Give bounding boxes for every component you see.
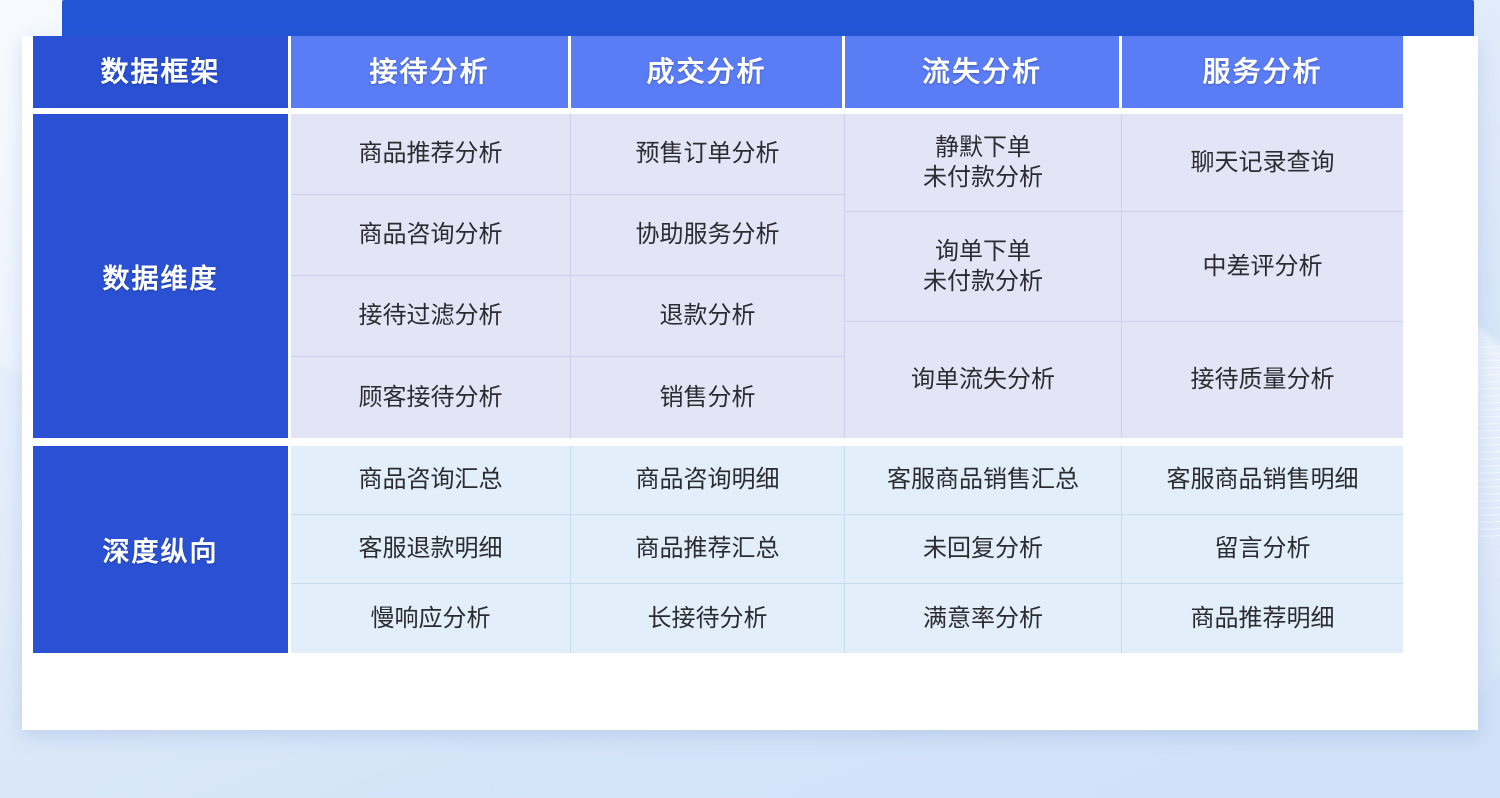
cell-deep-transaction-3[interactable]: 长接待分析 <box>571 584 845 653</box>
section-label-deep-vertical: 深度纵向 <box>33 446 291 653</box>
header-cell-reception[interactable]: 接待分析 <box>291 36 571 108</box>
table-row: 顾客接待分析 销售分析 <box>291 357 845 438</box>
cell-service-2[interactable]: 中差评分析 <box>1122 212 1403 322</box>
cell-deep-service-1[interactable]: 客服商品销售明细 <box>1122 446 1403 515</box>
table-row: 慢响应分析 长接待分析 满意率分析 商品推荐明细 <box>291 584 1403 653</box>
dimension-columns-left: 商品推荐分析 预售订单分析 商品咨询分析 协助服务分析 接待过滤分析 退款分析 … <box>291 114 845 438</box>
matrix-header-row: 数据框架 接待分析 成交分析 流失分析 服务分析 <box>33 36 1403 108</box>
header-cell-service[interactable]: 服务分析 <box>1122 36 1403 108</box>
cell-deep-reception-1[interactable]: 商品咨询汇总 <box>291 446 571 515</box>
dimension-columns-right: 静默下单 未付款分析 聊天记录查询 询单下单 未付款分析 中差评分析 询单流失分… <box>845 114 1403 438</box>
cell-deep-reception-3[interactable]: 慢响应分析 <box>291 584 571 653</box>
table-row: 询单流失分析 接待质量分析 <box>845 322 1403 438</box>
section-deep-vertical: 深度纵向 商品咨询汇总 商品咨询明细 客服商品销售汇总 客服商品销售明细 客服退… <box>33 446 1403 653</box>
table-row: 询单下单 未付款分析 中差评分析 <box>845 212 1403 322</box>
cell-reception-3[interactable]: 接待过滤分析 <box>291 276 571 357</box>
header-cell-transaction[interactable]: 成交分析 <box>571 36 845 108</box>
cell-transaction-4[interactable]: 销售分析 <box>571 357 845 438</box>
cell-churn-2[interactable]: 询单下单 未付款分析 <box>845 212 1122 322</box>
table-row: 接待过滤分析 退款分析 <box>291 276 845 357</box>
table-row: 客服退款明细 商品推荐汇总 未回复分析 留言分析 <box>291 515 1403 584</box>
cell-deep-churn-2[interactable]: 未回复分析 <box>845 515 1122 584</box>
cell-deep-transaction-2[interactable]: 商品推荐汇总 <box>571 515 845 584</box>
cell-churn-3[interactable]: 询单流失分析 <box>845 322 1122 438</box>
section-label-data-dimension: 数据维度 <box>33 114 291 438</box>
section-data-dimension: 数据维度 商品推荐分析 预售订单分析 商品咨询分析 协助服务分析 接待过滤分析 … <box>33 114 1403 438</box>
cell-deep-service-2[interactable]: 留言分析 <box>1122 515 1403 584</box>
cell-deep-reception-2[interactable]: 客服退款明细 <box>291 515 571 584</box>
table-row: 商品咨询汇总 商品咨询明细 客服商品销售汇总 客服商品销售明细 <box>291 446 1403 515</box>
table-row: 商品推荐分析 预售订单分析 <box>291 114 845 195</box>
header-cell-framework[interactable]: 数据框架 <box>33 36 291 108</box>
table-row: 静默下单 未付款分析 聊天记录查询 <box>845 114 1403 212</box>
header-cell-churn[interactable]: 流失分析 <box>845 36 1122 108</box>
cell-transaction-2[interactable]: 协助服务分析 <box>571 195 845 276</box>
cell-deep-churn-1[interactable]: 客服商品销售汇总 <box>845 446 1122 515</box>
cell-reception-2[interactable]: 商品咨询分析 <box>291 195 571 276</box>
cell-service-1[interactable]: 聊天记录查询 <box>1122 114 1403 212</box>
cell-reception-4[interactable]: 顾客接待分析 <box>291 357 571 438</box>
cell-deep-churn-3[interactable]: 满意率分析 <box>845 584 1122 653</box>
cell-deep-service-3[interactable]: 商品推荐明细 <box>1122 584 1403 653</box>
table-row: 商品咨询分析 协助服务分析 <box>291 195 845 276</box>
cell-service-3[interactable]: 接待质量分析 <box>1122 322 1403 438</box>
cell-reception-1[interactable]: 商品推荐分析 <box>291 114 571 195</box>
cell-deep-transaction-1[interactable]: 商品咨询明细 <box>571 446 845 515</box>
cell-transaction-1[interactable]: 预售订单分析 <box>571 114 845 195</box>
data-framework-matrix: 数据框架 接待分析 成交分析 流失分析 服务分析 数据维度 商品推荐分析 预售订… <box>33 36 1403 653</box>
data-dimension-grid: 商品推荐分析 预售订单分析 商品咨询分析 协助服务分析 接待过滤分析 退款分析 … <box>291 114 1403 438</box>
deep-vertical-grid: 商品咨询汇总 商品咨询明细 客服商品销售汇总 客服商品销售明细 客服退款明细 商… <box>291 446 1403 653</box>
cell-churn-1[interactable]: 静默下单 未付款分析 <box>845 114 1122 212</box>
cell-transaction-3[interactable]: 退款分析 <box>571 276 845 357</box>
section-divider <box>33 438 1403 446</box>
